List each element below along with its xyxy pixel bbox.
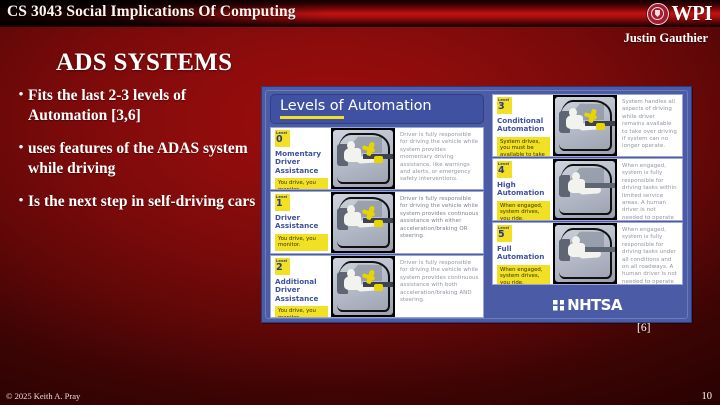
level-cell: Level 3 Conditional Automation System dr… (493, 95, 553, 156)
wpi-shield-icon (655, 10, 660, 17)
level-cell: Level 4 High Automation When engaged, sy… (493, 159, 553, 220)
level-tag: You drive, you monitor. (275, 306, 328, 318)
level-description: When engaged, system is fully responsibl… (617, 223, 682, 284)
level-cell: Level 0 Momentary Driver Assistance You … (271, 128, 331, 189)
bullet-dot-icon: • (14, 191, 28, 211)
list-item: • Fits the last 2-3 levels of Automation… (14, 86, 260, 126)
car-illustration (553, 159, 617, 220)
driver-foot-icon (374, 220, 383, 227)
car-illustration (331, 256, 395, 317)
level-description: Driver is fully responsible for driving … (395, 256, 483, 317)
level-cell: Level 2 Additional Driver Assistance You… (271, 256, 331, 317)
table-row: Level 5 Full Automation When engaged, sy… (492, 222, 683, 285)
bullet-list: • Fits the last 2-3 levels of Automation… (14, 86, 260, 225)
car-illustration-inner (555, 225, 615, 282)
level-name: Driver Assistance (275, 214, 328, 231)
level-description: Driver is fully responsible for driving … (395, 192, 483, 253)
driver-foot-icon (596, 123, 605, 130)
bullet-text: Fits the last 2-3 levels of Automation [… (28, 86, 260, 126)
car-illustration-inner (555, 97, 615, 154)
infographic-banner: Levels of Automation (270, 94, 484, 124)
car-illustration (553, 223, 617, 284)
level-tag: You drive, you monitor. (275, 178, 328, 190)
car-illustration-inner (333, 194, 393, 251)
car-dashboard-icon (585, 247, 615, 252)
infographic-title: Levels of Automation (280, 99, 483, 114)
levels-of-automation-infographic: Levels of Automation Level 0 Momentary D… (261, 86, 692, 323)
level-badge: Level 3 (497, 97, 512, 114)
level-name: Momentary Driver Assistance (275, 150, 328, 176)
car-illustration-inner (333, 130, 393, 187)
level-number: 5 (498, 230, 512, 239)
list-item: • uses features of the ADAS system while… (14, 139, 260, 179)
car-illustration-inner (555, 161, 615, 218)
level-name: High Automation (497, 181, 550, 198)
course-title: CS 3043 Social Implications Of Computing (7, 3, 296, 21)
table-row: Level 3 Conditional Automation System dr… (492, 94, 683, 157)
copyright-notice: © 2025 Keith A. Pray (6, 391, 80, 401)
bullet-dot-icon: • (14, 85, 28, 105)
level-tag: System drives, you must be available to … (497, 137, 550, 157)
table-row: Level 2 Additional Driver Assistance You… (270, 255, 484, 318)
level-number: 0 (276, 135, 290, 144)
level-number: 4 (498, 166, 512, 175)
table-row: Level 4 High Automation When engaged, sy… (492, 158, 683, 221)
citation-reference: [6] (637, 322, 650, 334)
level-description: Driver is fully responsible for driving … (395, 128, 483, 189)
level-cell: Level 1 Driver Assistance You drive, you… (271, 192, 331, 253)
nhtsa-logo: NHTSA (492, 294, 683, 316)
bullet-text: uses features of the ADAS system while d… (28, 139, 260, 179)
bullet-text: Is the next step in self-driving cars (28, 192, 255, 212)
driver-foot-icon (374, 284, 383, 291)
car-illustration (553, 95, 617, 156)
level-badge: Level 5 (497, 225, 512, 242)
slide-canvas: CS 3043 Social Implications Of Computing… (0, 0, 720, 405)
page-title: ADS SYSTEMS (56, 49, 232, 77)
level-description: When engaged, system is fully responsibl… (617, 159, 682, 220)
infographic-inner-panel: Levels of Automation Level 0 Momentary D… (265, 90, 688, 319)
wpi-logo: WPI (647, 0, 713, 27)
car-illustration (331, 128, 395, 189)
level-name: Full Automation (497, 245, 550, 262)
level-number: 2 (276, 263, 290, 272)
level-description: System handles all aspects of driving wh… (617, 95, 682, 156)
wpi-wordmark: WPI (672, 3, 713, 24)
level-badge: Level 4 (497, 161, 512, 178)
author-name: Justin Gauthier (624, 31, 708, 46)
table-row: Level 0 Momentary Driver Assistance You … (270, 127, 484, 190)
car-dashboard-icon (585, 183, 615, 188)
infographic-right-column: Level 3 Conditional Automation System dr… (488, 91, 687, 318)
level-badge: Level 2 (275, 258, 290, 275)
level-number: 3 (498, 102, 512, 111)
level-tag: When engaged, system drives, you ride. (497, 201, 550, 221)
car-illustration (331, 192, 395, 253)
slide-header-bar: CS 3043 Social Implications Of Computing… (0, 0, 720, 27)
nhtsa-wordmark: NHTSA (567, 296, 622, 314)
table-row: Level 1 Driver Assistance You drive, you… (270, 191, 484, 254)
bullet-dot-icon: • (14, 138, 28, 158)
level-name: Conditional Automation (497, 117, 550, 134)
level-cell: Level 5 Full Automation When engaged, sy… (493, 223, 553, 284)
page-number: 10 (702, 391, 713, 402)
infographic-left-column: Levels of Automation Level 0 Momentary D… (266, 91, 488, 318)
level-name: Additional Driver Assistance (275, 278, 328, 304)
car-illustration-inner (333, 258, 393, 315)
nhtsa-mark-icon (553, 300, 564, 311)
list-item: • Is the next step in self-driving cars (14, 192, 260, 212)
level-number: 1 (276, 199, 290, 208)
wpi-seal-icon (647, 3, 669, 25)
driver-foot-icon (374, 156, 383, 163)
title-underline (280, 116, 344, 119)
level-tag: When engaged, system drives, you ride. (497, 265, 550, 285)
level-badge: Level 1 (275, 194, 290, 211)
level-tag: You drive, you monitor. (275, 234, 328, 251)
level-badge: Level 0 (275, 130, 290, 147)
